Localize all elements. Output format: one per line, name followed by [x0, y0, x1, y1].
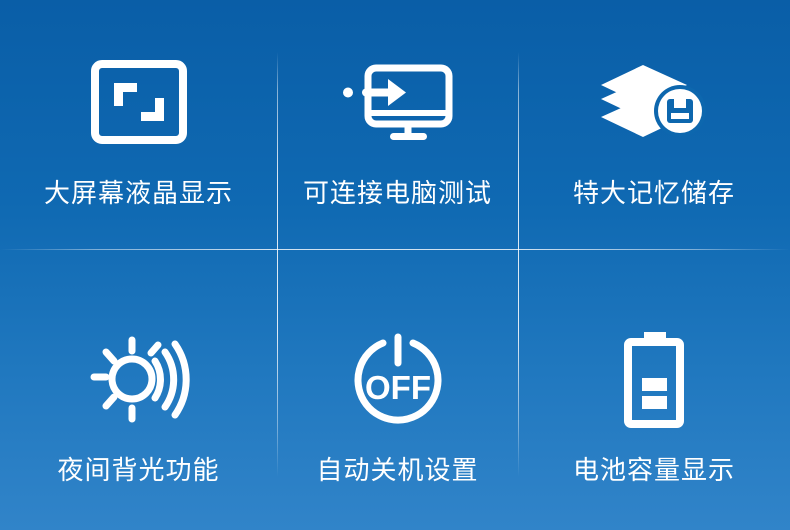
battery-icon — [618, 323, 690, 435]
feature-cell-large-lcd-display: 大屏幕液晶显示 — [0, 0, 277, 265]
feature-cell-auto-power-off: OFF 自动关机设置 — [277, 265, 518, 530]
feature-label: 特大记忆储存 — [573, 180, 735, 206]
power-off-icon: OFF — [350, 323, 446, 435]
feature-cell-night-backlight: 夜间背光功能 — [0, 265, 277, 530]
feature-highlights-panel: 大屏幕液晶显示 可连接电脑测试 — [0, 0, 790, 530]
feature-cell-battery-capacity-display: 电池容量显示 — [518, 265, 790, 530]
feature-label: 大屏幕液晶显示 — [44, 180, 233, 206]
sun-backlight-icon — [85, 323, 193, 435]
monitor-connect-icon — [338, 46, 458, 158]
feature-label: 电池容量显示 — [573, 457, 735, 483]
feature-label: 可连接电脑测试 — [303, 180, 492, 206]
layers-save-icon — [599, 46, 709, 158]
feature-cell-large-memory-storage: 特大记忆储存 — [518, 0, 790, 265]
screen-expand-icon — [91, 46, 187, 158]
power-off-icon-text: OFF — [365, 369, 431, 406]
feature-cell-pc-connectable-test: 可连接电脑测试 — [277, 0, 518, 265]
feature-grid: 大屏幕液晶显示 可连接电脑测试 — [0, 0, 790, 530]
feature-label: 夜间背光功能 — [57, 457, 219, 483]
feature-label: 自动关机设置 — [316, 457, 478, 483]
